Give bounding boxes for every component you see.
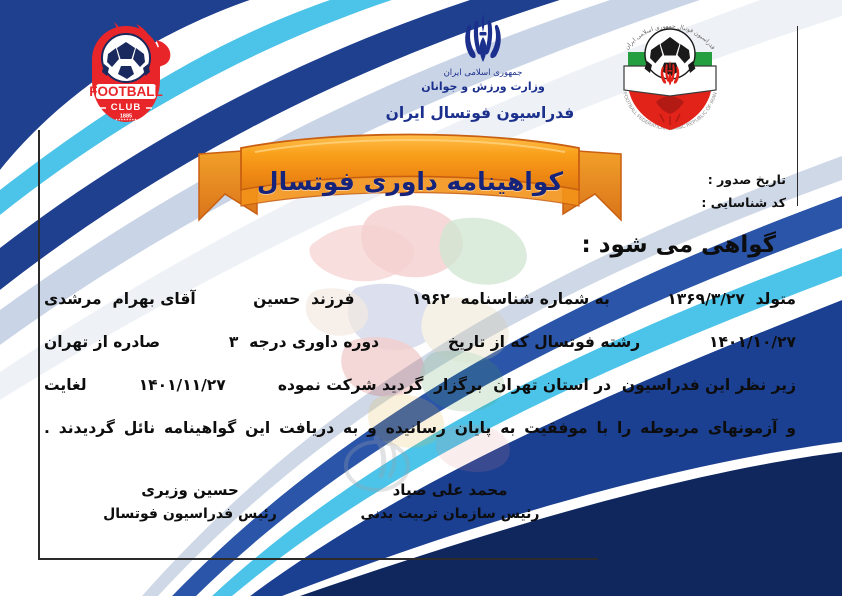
iran-national-emblem-icon xyxy=(455,12,511,66)
discipline-text: رشته فوتسال که از تاریخ xyxy=(448,321,640,364)
signature-block-physical-education: محمد علی صیاد رئیس سازمان تربیت بدنی xyxy=(320,478,580,526)
badge-text-football: FOOTBALL xyxy=(89,84,163,99)
course-grade-text: دوره داوری درجه ۳ xyxy=(229,321,379,364)
issue-date-field[interactable]: تاریخ صدور : xyxy=(701,168,786,191)
certificate-title: کواهینامه داوری فوتسال xyxy=(195,135,625,227)
signature-row: محمد علی صیاد رئیس سازمان تربیت بدنی حسی… xyxy=(60,478,580,526)
svg-text:٭٭٭٭٭٭٭٭: ٭٭٭٭٭٭٭٭ xyxy=(115,117,137,123)
issued-from-text: صادره از تهران xyxy=(44,321,160,364)
signatory-name: محمد علی صیاد xyxy=(320,478,580,502)
badge-text-club: CLUB xyxy=(111,102,141,113)
issue-date-label: تاریخ صدور : xyxy=(708,172,786,187)
recipient-name-text: آقای بهرام مرشدی xyxy=(44,278,196,321)
football-club-badge-logo: FOOTBALL CLUB 1885 ٭٭٭٭٭٭٭٭ xyxy=(70,18,178,130)
certificate-meta-fields: تاریخ صدور : کد شناسایی : xyxy=(701,168,786,214)
body-line-2: ۱۴۰۱/۱۰/۲۷ رشته فوتسال که از تاریخ دوره … xyxy=(44,321,796,364)
end-date-value: ۱۴۰۱/۱۱/۲۷ xyxy=(139,364,226,407)
body-line-1: متولد ۱۳۶۹/۳/۲۷ به شماره شناسنامه ۱۹۶۲ ف… xyxy=(44,278,796,321)
frame-line-bottom xyxy=(38,558,598,560)
certify-heading: گواهی می شود : xyxy=(582,232,776,258)
start-date-value: ۱۴۰۱/۱۰/۲۷ xyxy=(709,321,796,364)
until-label: لغایت xyxy=(44,364,87,407)
body-line-3: زیر نظر این فدراسیون در استان تهران برگز… xyxy=(44,364,796,407)
body-line-4: و آزمونهای مربوطه را با موفقیت به پایان … xyxy=(44,407,796,450)
emblem-country-line: جمهوری اسلامی ایران xyxy=(378,68,588,79)
frame-line-right xyxy=(797,26,799,206)
football-club-badge-graphic: FOOTBALL CLUB 1885 ٭٭٭٭٭٭٭٭ xyxy=(70,18,178,130)
emblem-subtitle-block: جمهوری اسلامی ایران وزارت ورزش و جوانان xyxy=(378,68,588,93)
iran-football-federation-crest-logo: فدراسیون فوتبال جمهوری اسلامی ایران FOOT… xyxy=(600,10,740,136)
certificate-page: FOOTBALL CLUB 1885 ٭٭٭٭٭٭٭٭ جمهوری اسلام… xyxy=(0,0,842,596)
signatory-title: رئیس سازمان تربیت بدنی xyxy=(320,502,580,526)
signatory-title: رئیس فدراسیون فوتسال xyxy=(60,502,320,526)
emblem-ministry-line: وزارت ورزش و جوانان xyxy=(421,80,545,93)
id-code-field[interactable]: کد شناسایی : xyxy=(701,191,786,214)
federation-crest-graphic: فدراسیون فوتبال جمهوری اسلامی ایران FOOT… xyxy=(600,10,740,136)
frame-line-left xyxy=(38,130,40,560)
birth-date-value: متولد ۱۳۶۹/۳/۲۷ xyxy=(667,278,796,321)
signatory-name: حسین وزیری xyxy=(60,478,320,502)
id-number-text: به شماره شناسنامه ۱۹۶۲ xyxy=(412,278,610,321)
father-name-text: فرزند حسین xyxy=(253,278,355,321)
title-ribbon: کواهینامه داوری فوتسال xyxy=(195,128,625,236)
supervision-text: زیر نظر این فدراسیون در استان تهران برگز… xyxy=(278,364,796,407)
certificate-body: متولد ۱۳۶۹/۳/۲۷ به شماره شناسنامه ۱۹۶۲ ف… xyxy=(44,278,796,450)
id-code-label: کد شناسایی : xyxy=(701,195,786,210)
signature-block-futsal-federation: حسین وزیری رئیس فدراسیون فوتسال xyxy=(60,478,320,526)
federation-title: فدراسیون فوتسال ایران xyxy=(330,104,630,122)
